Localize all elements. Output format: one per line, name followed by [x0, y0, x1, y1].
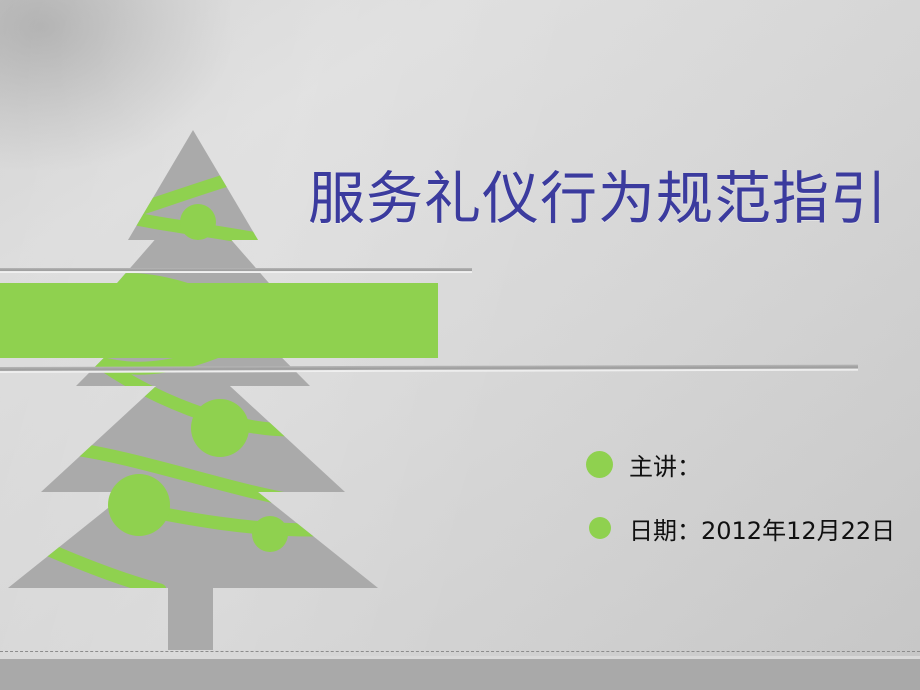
tree-ornament-3	[191, 399, 249, 457]
green-dot-icon	[589, 517, 611, 539]
tree-layer-1	[128, 130, 258, 240]
tree-layer-5	[8, 440, 378, 588]
slide-title: 服务礼仪行为规范指引	[308, 168, 908, 232]
tree-ornament-4	[108, 474, 170, 536]
green-garland	[38, 168, 312, 590]
tree-layer-4	[41, 352, 345, 492]
date-label: 日期：2012年12月22日	[629, 511, 895, 546]
presenter-label: 主讲：	[629, 447, 701, 482]
tree-ornament-5	[252, 516, 288, 552]
divider-line-upper	[0, 268, 472, 273]
green-dot-icon	[586, 451, 613, 478]
green-accent-bar	[0, 283, 438, 358]
presentation-slide: 服务礼仪行为规范指引 主讲： 日期：2012年12月22日	[0, 0, 920, 690]
tree-trunk	[168, 575, 213, 650]
divider-line-lower	[0, 365, 858, 373]
footer-dashed-divider	[0, 651, 920, 652]
corner-shading	[0, 0, 230, 170]
list-item: 日期：2012年12月22日	[586, 496, 916, 560]
list-item: 主讲：	[586, 432, 916, 496]
bullet-list: 主讲： 日期：2012年12月22日	[586, 432, 916, 560]
tree-ornament-1	[180, 204, 216, 240]
footer-band	[0, 659, 920, 690]
